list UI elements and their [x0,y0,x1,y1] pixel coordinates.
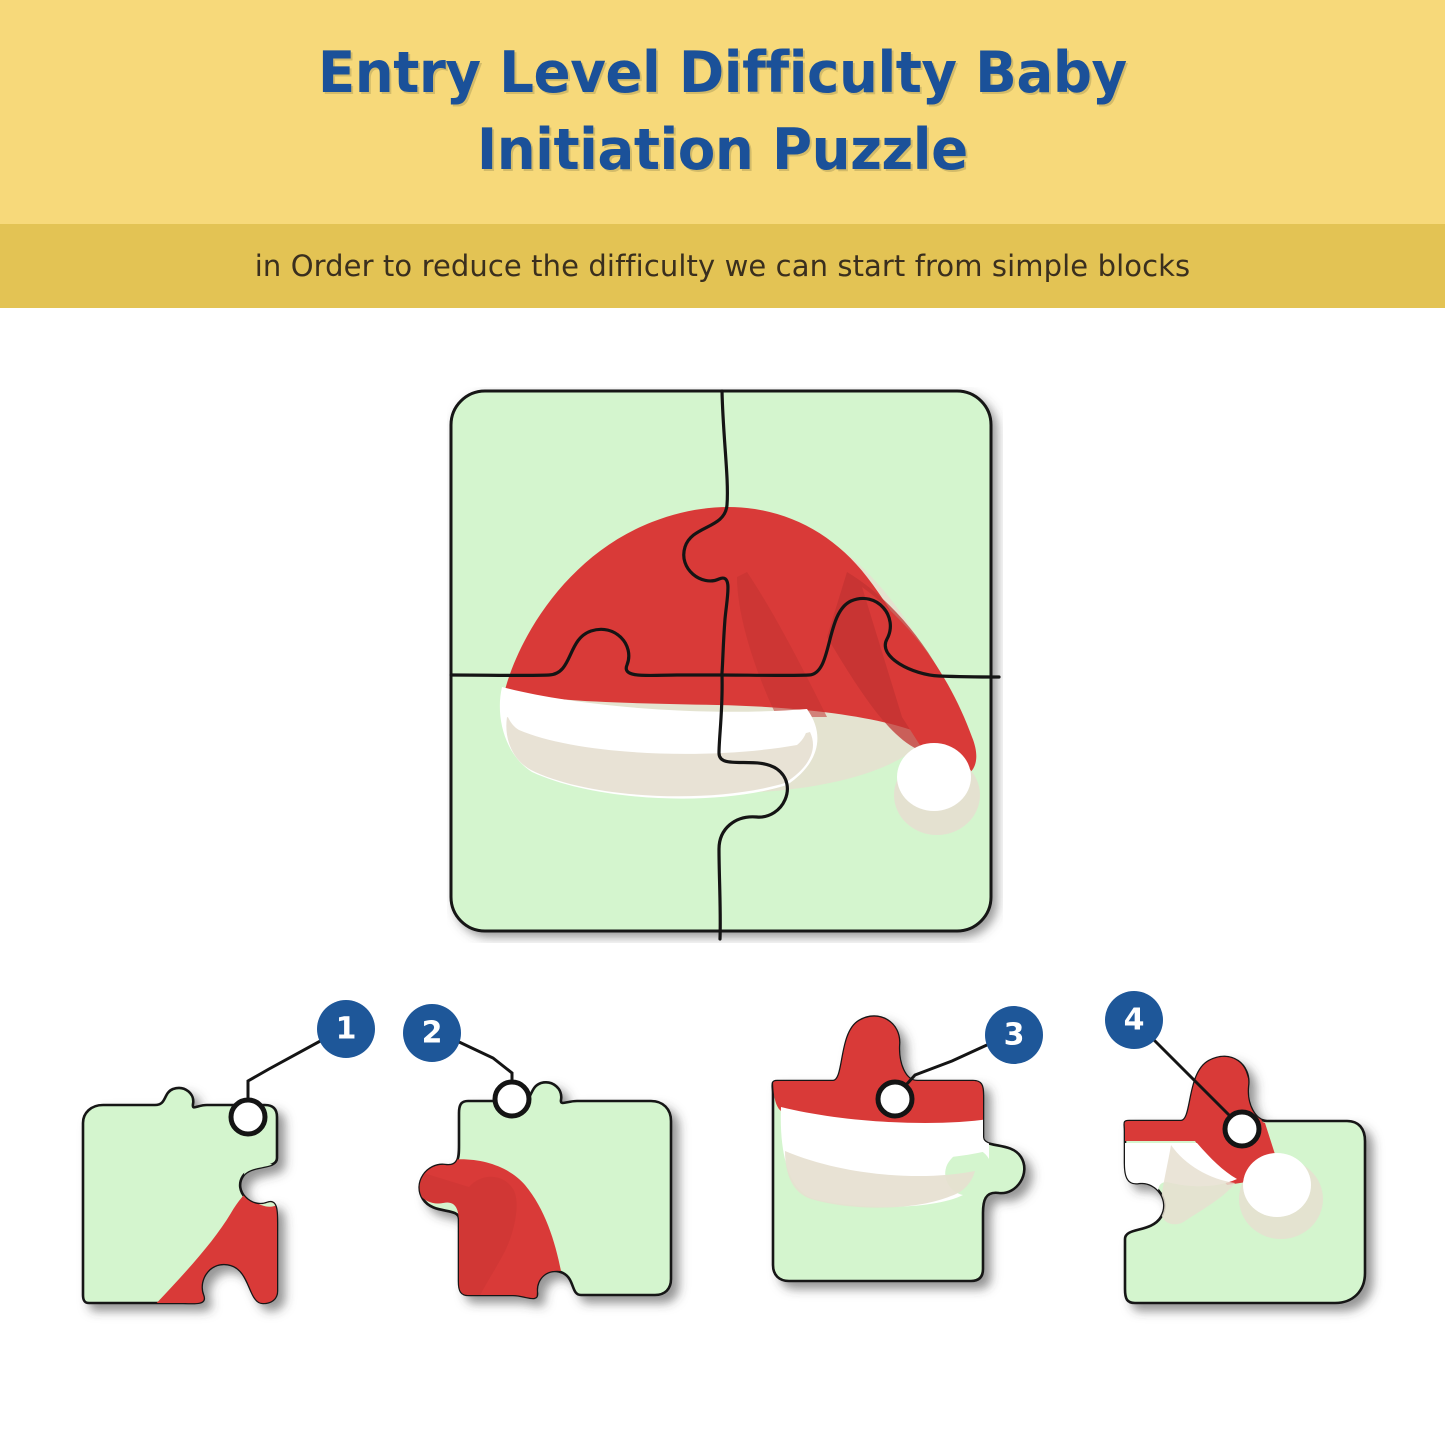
pompom [897,743,971,811]
piece-3-badge-label: 3 [1004,1018,1025,1053]
piece-4-anchor-ring [1225,1112,1259,1146]
piece-1-badge-label: 1 [336,1012,357,1047]
piece-item-2[interactable]: 2 [385,973,725,1353]
header-band: Entry Level Difficulty Baby Initiation P… [0,0,1445,224]
pieces-row: 1 [0,973,1445,1353]
subtitle-text: in Order to reduce the difficulty we can… [255,249,1190,283]
piece-item-4[interactable]: 4 [1085,973,1425,1353]
subtitle-band: in Order to reduce the difficulty we can… [0,224,1445,308]
page-title: Entry Level Difficulty Baby Initiation P… [318,35,1127,189]
piece-4-badge-label: 4 [1124,1003,1145,1038]
assembled-puzzle-svg [447,387,1003,943]
piece-2-anchor-ring [495,1082,529,1116]
piece-item-1[interactable]: 1 [55,973,395,1353]
illustration-stage: 1 [0,308,1445,1445]
piece-4-svg: 4 [1085,973,1425,1353]
piece-4-pompom [1243,1153,1311,1217]
piece-2-svg: 2 [385,973,725,1353]
piece-3-svg: 3 [755,973,1095,1353]
piece-1-anchor-ring [231,1100,265,1134]
piece-1-svg: 1 [55,973,395,1353]
piece-item-3[interactable]: 3 [755,973,1095,1353]
piece-2-badge-label: 2 [422,1016,443,1051]
assembled-puzzle-board [447,387,1003,943]
piece-3-anchor-ring [878,1082,912,1116]
